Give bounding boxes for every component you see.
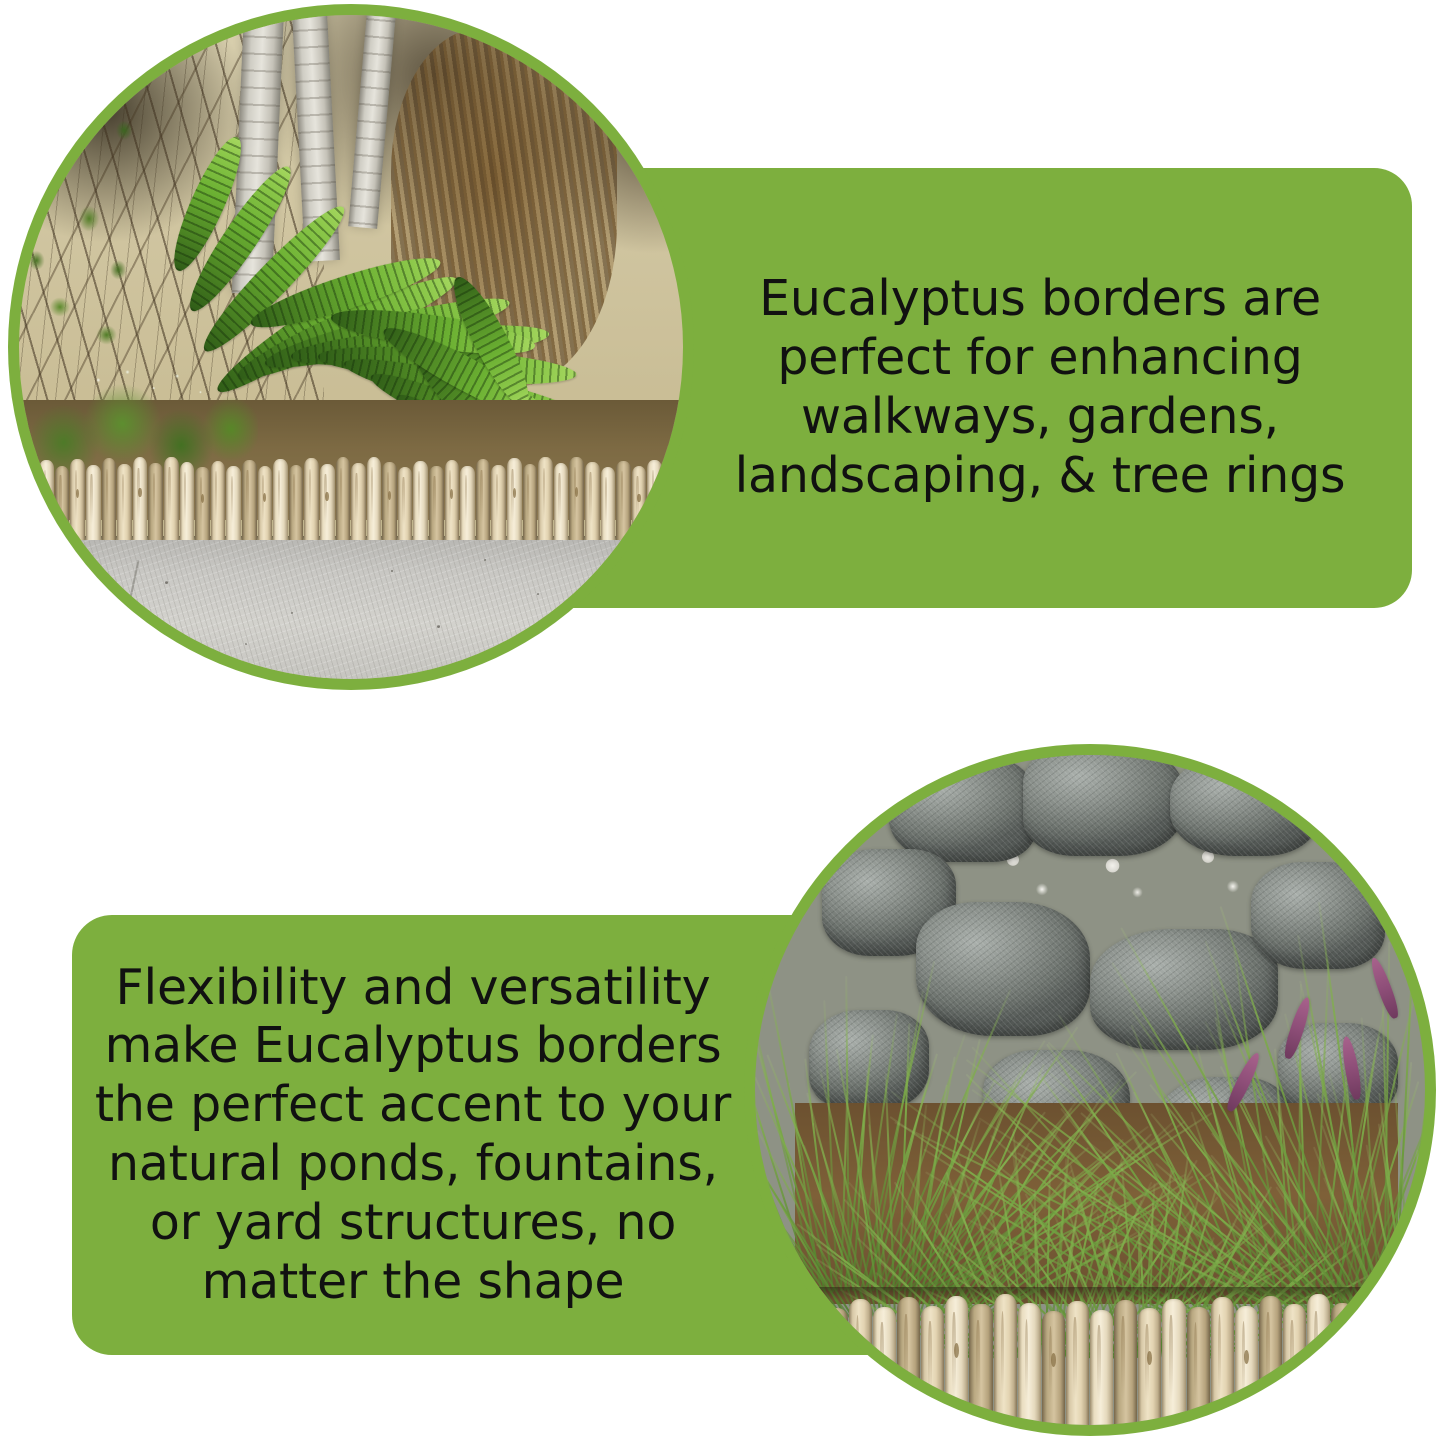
log-paling bbox=[70, 459, 85, 546]
log-paling bbox=[1090, 1310, 1113, 1425]
eucalyptus-log-border bbox=[19, 457, 683, 547]
feature-panel-top-text: Eucalyptus borders are perfect for enhan… bbox=[690, 270, 1390, 505]
log-paling bbox=[242, 460, 257, 546]
log-paling bbox=[367, 457, 382, 547]
log-paling bbox=[102, 458, 117, 546]
walkway-fleck bbox=[597, 637, 599, 639]
log-paling bbox=[849, 1299, 872, 1425]
log-paling bbox=[351, 463, 366, 546]
log-paling bbox=[1307, 1294, 1330, 1425]
log-paling bbox=[663, 466, 678, 547]
log-paling bbox=[289, 465, 304, 547]
feature-panel-bottom-text: Flexibility and versatility make Eucalyp… bbox=[94, 959, 732, 1312]
log-paling bbox=[1235, 1306, 1258, 1425]
log-paling bbox=[755, 1301, 775, 1425]
log-paling bbox=[476, 459, 491, 546]
white-flowers bbox=[72, 360, 218, 426]
walkway-fleck bbox=[437, 625, 440, 628]
walkway-fleck bbox=[484, 559, 486, 561]
log-paling bbox=[320, 464, 335, 546]
log-paling bbox=[1138, 1308, 1161, 1425]
log-paling bbox=[445, 460, 460, 546]
photo-walkway-garden bbox=[19, 15, 683, 679]
log-paling bbox=[873, 1307, 896, 1425]
log-paling bbox=[226, 466, 241, 546]
log-paling bbox=[117, 464, 132, 546]
log-paling bbox=[1331, 1303, 1354, 1425]
log-paling bbox=[460, 466, 475, 547]
log-paling bbox=[554, 463, 569, 546]
log-paling bbox=[1404, 1310, 1425, 1425]
log-paling bbox=[1187, 1307, 1210, 1425]
log-paling bbox=[1042, 1311, 1065, 1425]
log-paling bbox=[211, 461, 226, 546]
log-paling bbox=[133, 457, 148, 546]
log-paling bbox=[801, 1300, 824, 1425]
log-paling bbox=[1211, 1297, 1234, 1425]
walkway-fleck bbox=[537, 593, 539, 595]
walkway-fleck bbox=[165, 581, 168, 584]
log-paling bbox=[273, 459, 288, 546]
photo-medallion-rock-garden bbox=[744, 744, 1436, 1436]
walkway-fleck bbox=[391, 570, 393, 572]
boulder bbox=[1023, 755, 1184, 856]
log-paling bbox=[195, 467, 210, 546]
log-paling bbox=[647, 460, 662, 546]
log-paling bbox=[945, 1296, 968, 1425]
walkway-fleck bbox=[291, 612, 293, 614]
log-paling bbox=[1355, 1311, 1378, 1425]
log-paling bbox=[336, 457, 351, 546]
log-paling bbox=[55, 466, 70, 547]
photo-rock-garden bbox=[755, 755, 1425, 1425]
log-paling bbox=[180, 462, 195, 546]
log-paling bbox=[491, 465, 506, 547]
log-paling bbox=[86, 465, 101, 547]
log-paling bbox=[994, 1294, 1017, 1425]
walkway-fleck bbox=[245, 643, 247, 645]
concrete-walkway bbox=[19, 540, 683, 679]
log-paling bbox=[39, 460, 54, 546]
log-paling bbox=[1114, 1300, 1137, 1425]
log-paling bbox=[569, 457, 584, 547]
log-paling bbox=[679, 459, 683, 546]
log-paling bbox=[382, 462, 397, 546]
boulder bbox=[889, 755, 1036, 862]
log-paling bbox=[398, 467, 413, 546]
log-paling bbox=[507, 458, 522, 546]
log-paling bbox=[413, 461, 428, 546]
log-paling bbox=[1380, 1301, 1403, 1425]
log-paling bbox=[164, 457, 179, 547]
log-paling bbox=[616, 461, 631, 546]
log-paling bbox=[897, 1297, 920, 1425]
log-paling bbox=[585, 462, 600, 546]
photo-medallion-walkway-garden bbox=[8, 4, 694, 690]
log-paling bbox=[523, 464, 538, 546]
log-paling bbox=[304, 458, 319, 546]
log-paling bbox=[1018, 1303, 1041, 1425]
log-paling bbox=[1283, 1304, 1306, 1425]
log-paling bbox=[1066, 1301, 1089, 1425]
walkway-seam bbox=[113, 560, 140, 678]
log-paling bbox=[429, 466, 444, 546]
log-paling bbox=[19, 461, 23, 546]
marketing-infographic: Eucalyptus borders are perfect for enhan… bbox=[0, 0, 1445, 1445]
log-paling bbox=[776, 1310, 799, 1425]
log-paling bbox=[825, 1308, 848, 1425]
log-paling bbox=[148, 463, 163, 546]
log-paling bbox=[969, 1304, 992, 1425]
log-paling bbox=[921, 1306, 944, 1425]
log-paling bbox=[601, 467, 616, 546]
boulder bbox=[1170, 755, 1317, 856]
eucalyptus-log-border bbox=[755, 1294, 1425, 1425]
log-paling bbox=[24, 466, 39, 546]
log-paling bbox=[1162, 1299, 1185, 1425]
log-paling bbox=[632, 466, 647, 546]
log-paling bbox=[1259, 1296, 1282, 1425]
log-paling bbox=[538, 457, 553, 546]
log-paling bbox=[258, 466, 273, 547]
